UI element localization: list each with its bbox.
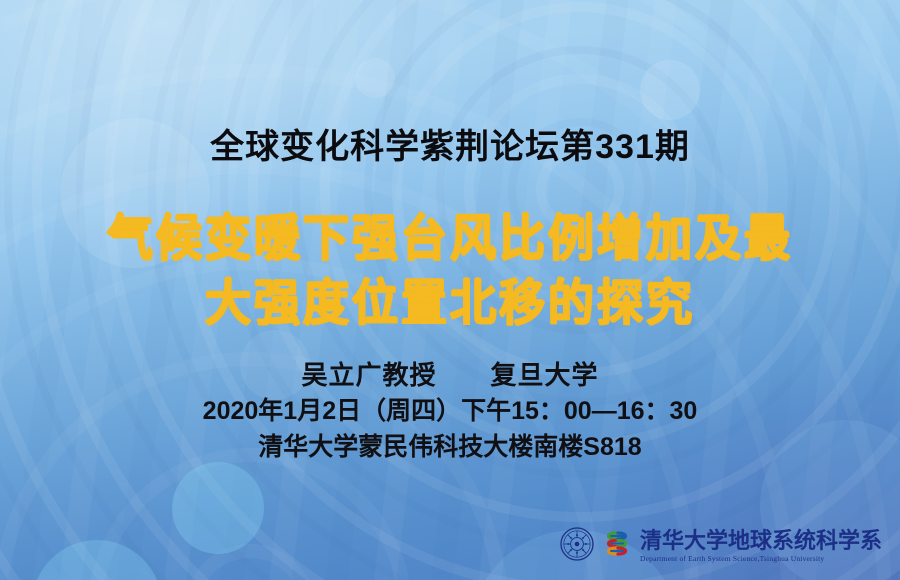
logo-chinese-name: 清华大学地球系统科学系 [640, 530, 882, 552]
logo-english-name: Department of Earth System Science,Tsing… [640, 555, 824, 563]
poster-content: 全球变化科学紫荆论坛第331期 气候变暖下强台风比例增加及最 大强度位置北移的探… [0, 0, 900, 580]
series-title: 全球变化科学紫荆论坛第331期 [0, 128, 900, 167]
datetime-line: 2020年1月2日（周四）下午15：00—16：30 [0, 391, 900, 427]
speaker-and-affiliation: 吴立广教授 复旦大学 [0, 355, 900, 392]
main-title: 气候变暖下强台风比例增加及最 大强度位置北移的探究 [0, 206, 900, 335]
logo-text-block: 清华大学地球系统科学系 Department of Earth System S… [640, 530, 882, 563]
seminar-poster: 全球变化科学紫荆论坛第331期 气候变暖下强台风比例增加及最 大强度位置北移的探… [0, 0, 900, 580]
venue-line: 清华大学蒙民伟科技大楼南楼S818 [0, 427, 900, 463]
earth-system-science-mark-icon [602, 528, 632, 565]
tsinghua-seal-icon [560, 527, 594, 566]
department-logo: 清华大学地球系统科学系 Department of Earth System S… [560, 527, 882, 566]
